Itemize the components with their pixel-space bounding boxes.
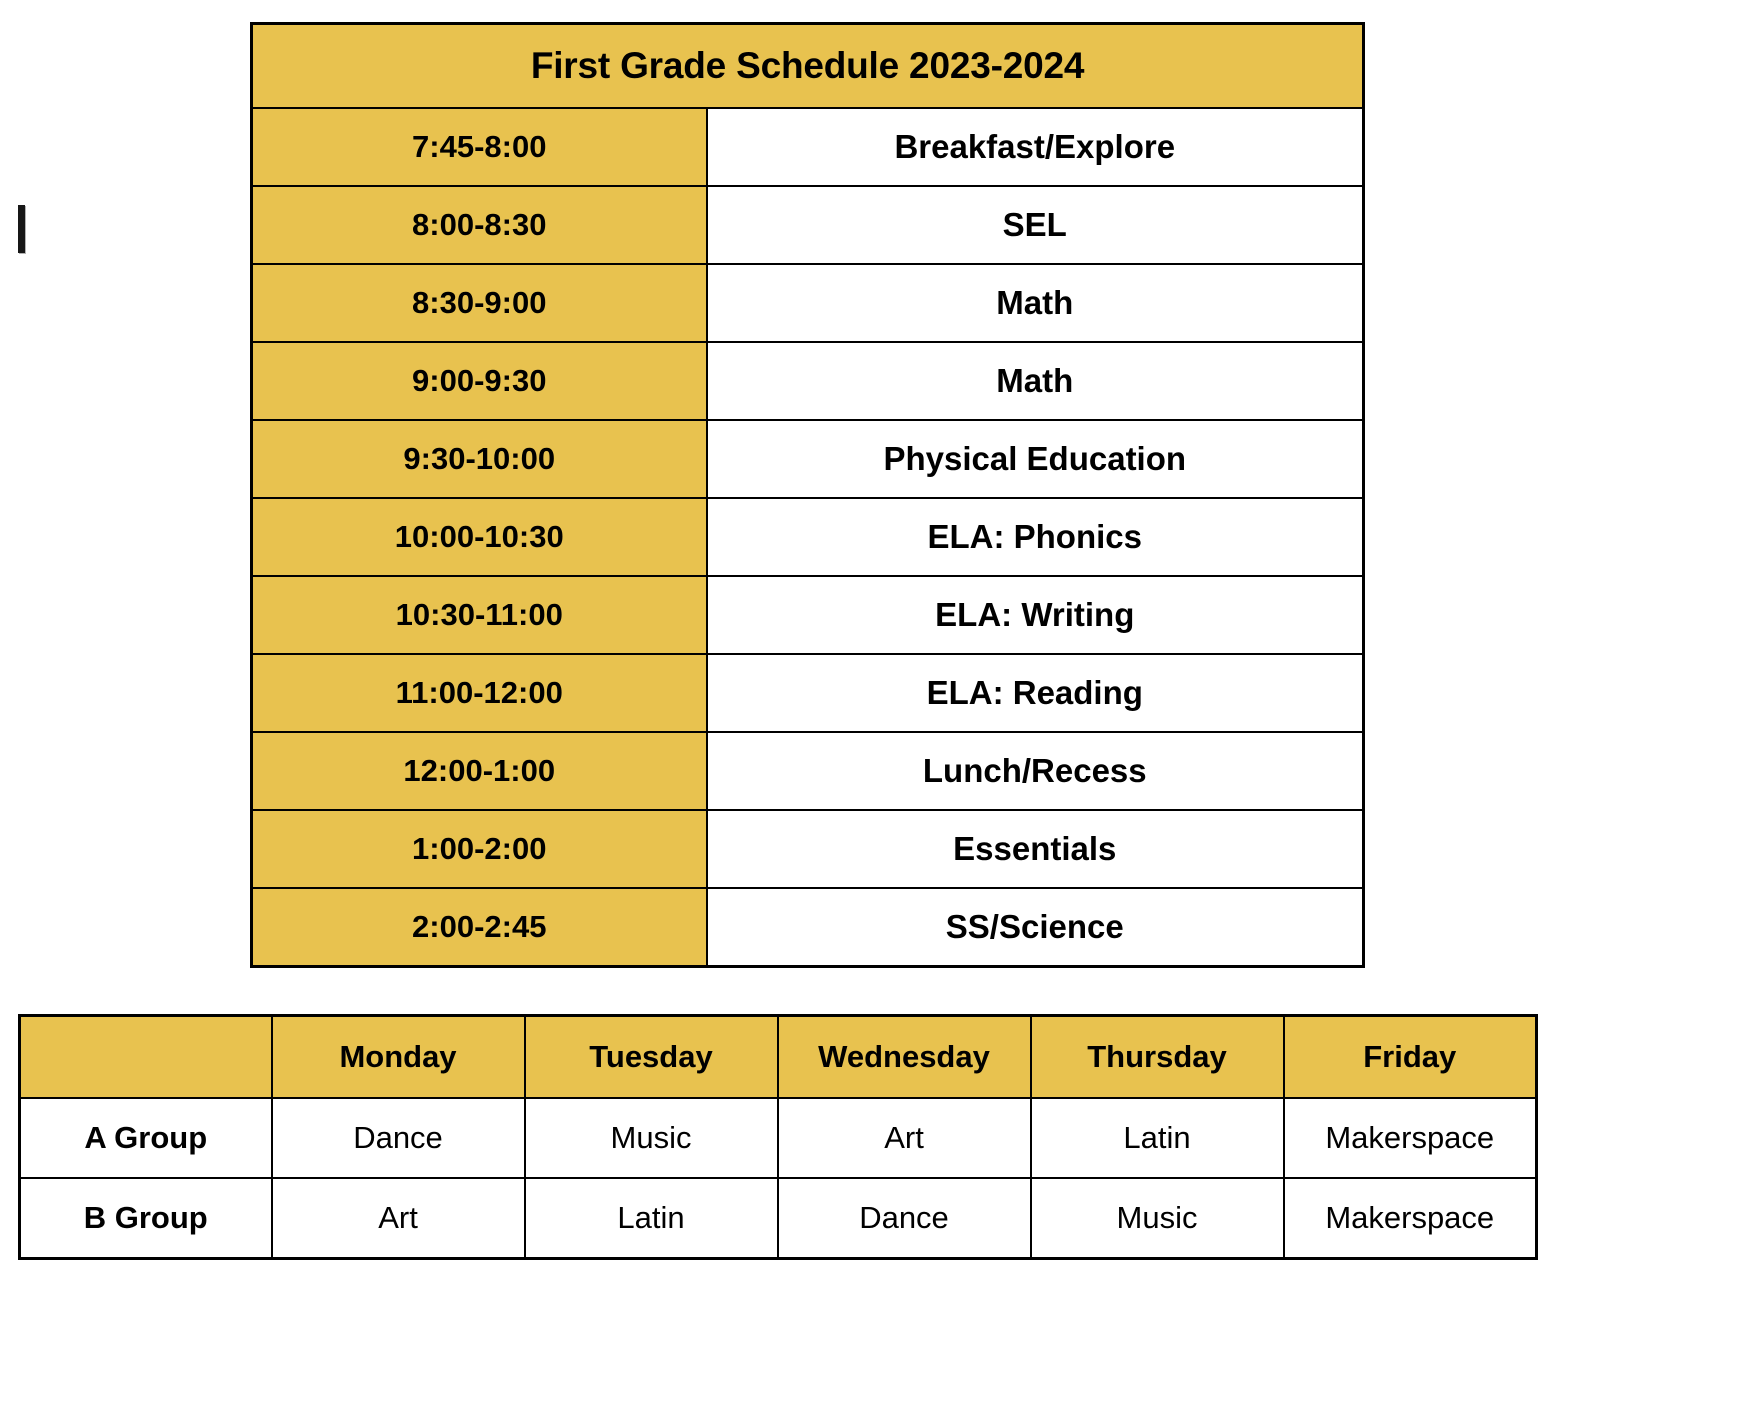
schedule-activity-cell: Math: [707, 264, 1364, 342]
specials-cell: Dance: [272, 1098, 525, 1178]
specials-group-label: B Group: [20, 1178, 272, 1259]
table-row: 12:00-1:00 Lunch/Recess: [252, 732, 1364, 810]
first-grade-schedule-table: First Grade Schedule 2023-2024 7:45-8:00…: [250, 22, 1365, 968]
schedule-time-cell: 8:00-8:30: [252, 186, 707, 264]
schedule-activity-cell: ELA: Phonics: [707, 498, 1364, 576]
text-caret: [18, 205, 25, 253]
schedule-activity-cell: SS/Science: [707, 888, 1364, 967]
specials-cell: Music: [1031, 1178, 1284, 1259]
schedule-activity-cell: Breakfast/Explore: [707, 108, 1364, 186]
specials-rotation-table: Monday Tuesday Wednesday Thursday Friday…: [18, 1014, 1538, 1260]
schedule-time-cell: 7:45-8:00: [252, 108, 707, 186]
table-row: 11:00-12:00 ELA: Reading: [252, 654, 1364, 732]
schedule-time-cell: 10:30-11:00: [252, 576, 707, 654]
schedule-activity-cell: Essentials: [707, 810, 1364, 888]
specials-group-label: A Group: [20, 1098, 272, 1178]
specials-header-row: Monday Tuesday Wednesday Thursday Friday: [20, 1016, 1537, 1099]
table-row: 2:00-2:45 SS/Science: [252, 888, 1364, 967]
table-row: 9:30-10:00 Physical Education: [252, 420, 1364, 498]
specials-cell: Art: [778, 1098, 1031, 1178]
specials-cell: Dance: [778, 1178, 1031, 1259]
schedule-time-cell: 10:00-10:30: [252, 498, 707, 576]
schedule-time-cell: 2:00-2:45: [252, 888, 707, 967]
specials-cell: Latin: [525, 1178, 778, 1259]
schedule-activity-cell: SEL: [707, 186, 1364, 264]
specials-cell: Art: [272, 1178, 525, 1259]
table-row: 8:00-8:30 SEL: [252, 186, 1364, 264]
specials-cell: Music: [525, 1098, 778, 1178]
table-row: B Group Art Latin Dance Music Makerspace: [20, 1178, 1537, 1259]
schedule-time-cell: 12:00-1:00: [252, 732, 707, 810]
table-row: A Group Dance Music Art Latin Makerspace: [20, 1098, 1537, 1178]
specials-cell: Latin: [1031, 1098, 1284, 1178]
specials-day-header-friday: Friday: [1284, 1016, 1537, 1099]
specials-day-header-monday: Monday: [272, 1016, 525, 1099]
specials-day-header-tuesday: Tuesday: [525, 1016, 778, 1099]
table-row: 7:45-8:00 Breakfast/Explore: [252, 108, 1364, 186]
table-row: 8:30-9:00 Math: [252, 264, 1364, 342]
schedule-title-row: First Grade Schedule 2023-2024: [252, 24, 1364, 109]
schedule-time-cell: 8:30-9:00: [252, 264, 707, 342]
specials-day-header-thursday: Thursday: [1031, 1016, 1284, 1099]
table-row: 10:00-10:30 ELA: Phonics: [252, 498, 1364, 576]
schedule-activity-cell: Math: [707, 342, 1364, 420]
schedule-activity-cell: Physical Education: [707, 420, 1364, 498]
table-row: 1:00-2:00 Essentials: [252, 810, 1364, 888]
table-row: 10:30-11:00 ELA: Writing: [252, 576, 1364, 654]
schedule-activity-cell: ELA: Writing: [707, 576, 1364, 654]
schedule-activity-cell: Lunch/Recess: [707, 732, 1364, 810]
schedule-time-cell: 9:00-9:30: [252, 342, 707, 420]
schedule-activity-cell: ELA: Reading: [707, 654, 1364, 732]
schedule-title: First Grade Schedule 2023-2024: [252, 24, 1364, 109]
specials-corner-cell: [20, 1016, 272, 1099]
specials-cell: Makerspace: [1284, 1098, 1537, 1178]
specials-cell: Makerspace: [1284, 1178, 1537, 1259]
schedule-time-cell: 1:00-2:00: [252, 810, 707, 888]
table-row: 9:00-9:30 Math: [252, 342, 1364, 420]
schedule-time-cell: 11:00-12:00: [252, 654, 707, 732]
schedule-time-cell: 9:30-10:00: [252, 420, 707, 498]
specials-day-header-wednesday: Wednesday: [778, 1016, 1031, 1099]
